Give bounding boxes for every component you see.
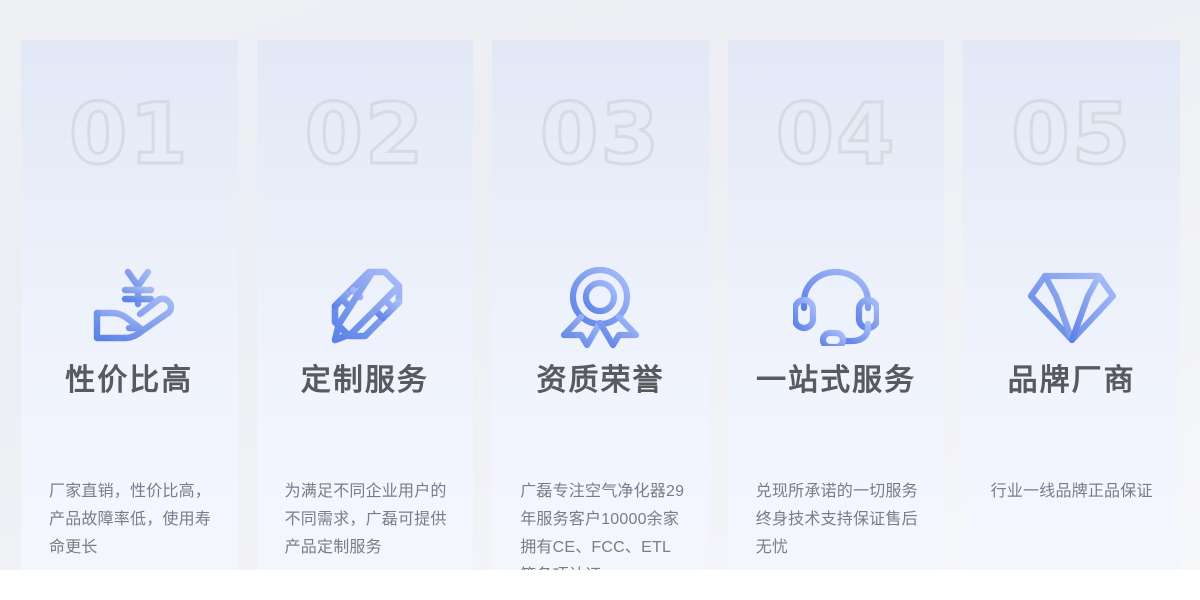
award-ribbon-icon [492,262,709,352]
feature-card[interactable]: 02 [257,40,474,570]
card-number: 05 [963,92,1180,176]
card-title: 一站式服务 [728,362,945,400]
card-number: 03 [492,92,709,176]
feature-card[interactable]: 04 [728,40,945,570]
hand-holding-yuan-icon [21,262,238,352]
feature-card-list: 01 [21,40,1180,570]
card-title: 定制服务 [257,362,474,400]
card-number: 04 [728,92,945,176]
card-description: 为满足不同企业用户的不同需求，广磊可提供产品定制服务 [285,478,452,562]
card-number: 01 [21,92,238,176]
card-number: 02 [257,92,474,176]
card-description: 兑现所承诺的一切服务终身技术支持保证售后无忧 [756,478,923,562]
feature-card[interactable]: 03 [492,40,709,570]
card-title: 资质荣誉 [492,362,709,400]
diamond-icon [963,262,1180,352]
card-title: 性价比高 [21,362,238,400]
card-description: 广磊专注空气净化器29年服务客户10000余家拥有CE、FCC、ETL等各项认证 [520,478,687,570]
card-title: 品牌厂商 [963,362,1180,400]
feature-card[interactable]: 01 [21,40,238,570]
headset-icon [728,262,945,352]
feature-card[interactable]: 05 [963,40,1180,570]
feature-highlights-page: 01 [0,0,1200,600]
card-description: 行业一线品牌正品保证 [977,478,1166,506]
card-description: 厂家直销，性价比高，产品故障率低，使用寿命更长 [49,478,216,562]
pencil-ruler-icon [257,262,474,352]
